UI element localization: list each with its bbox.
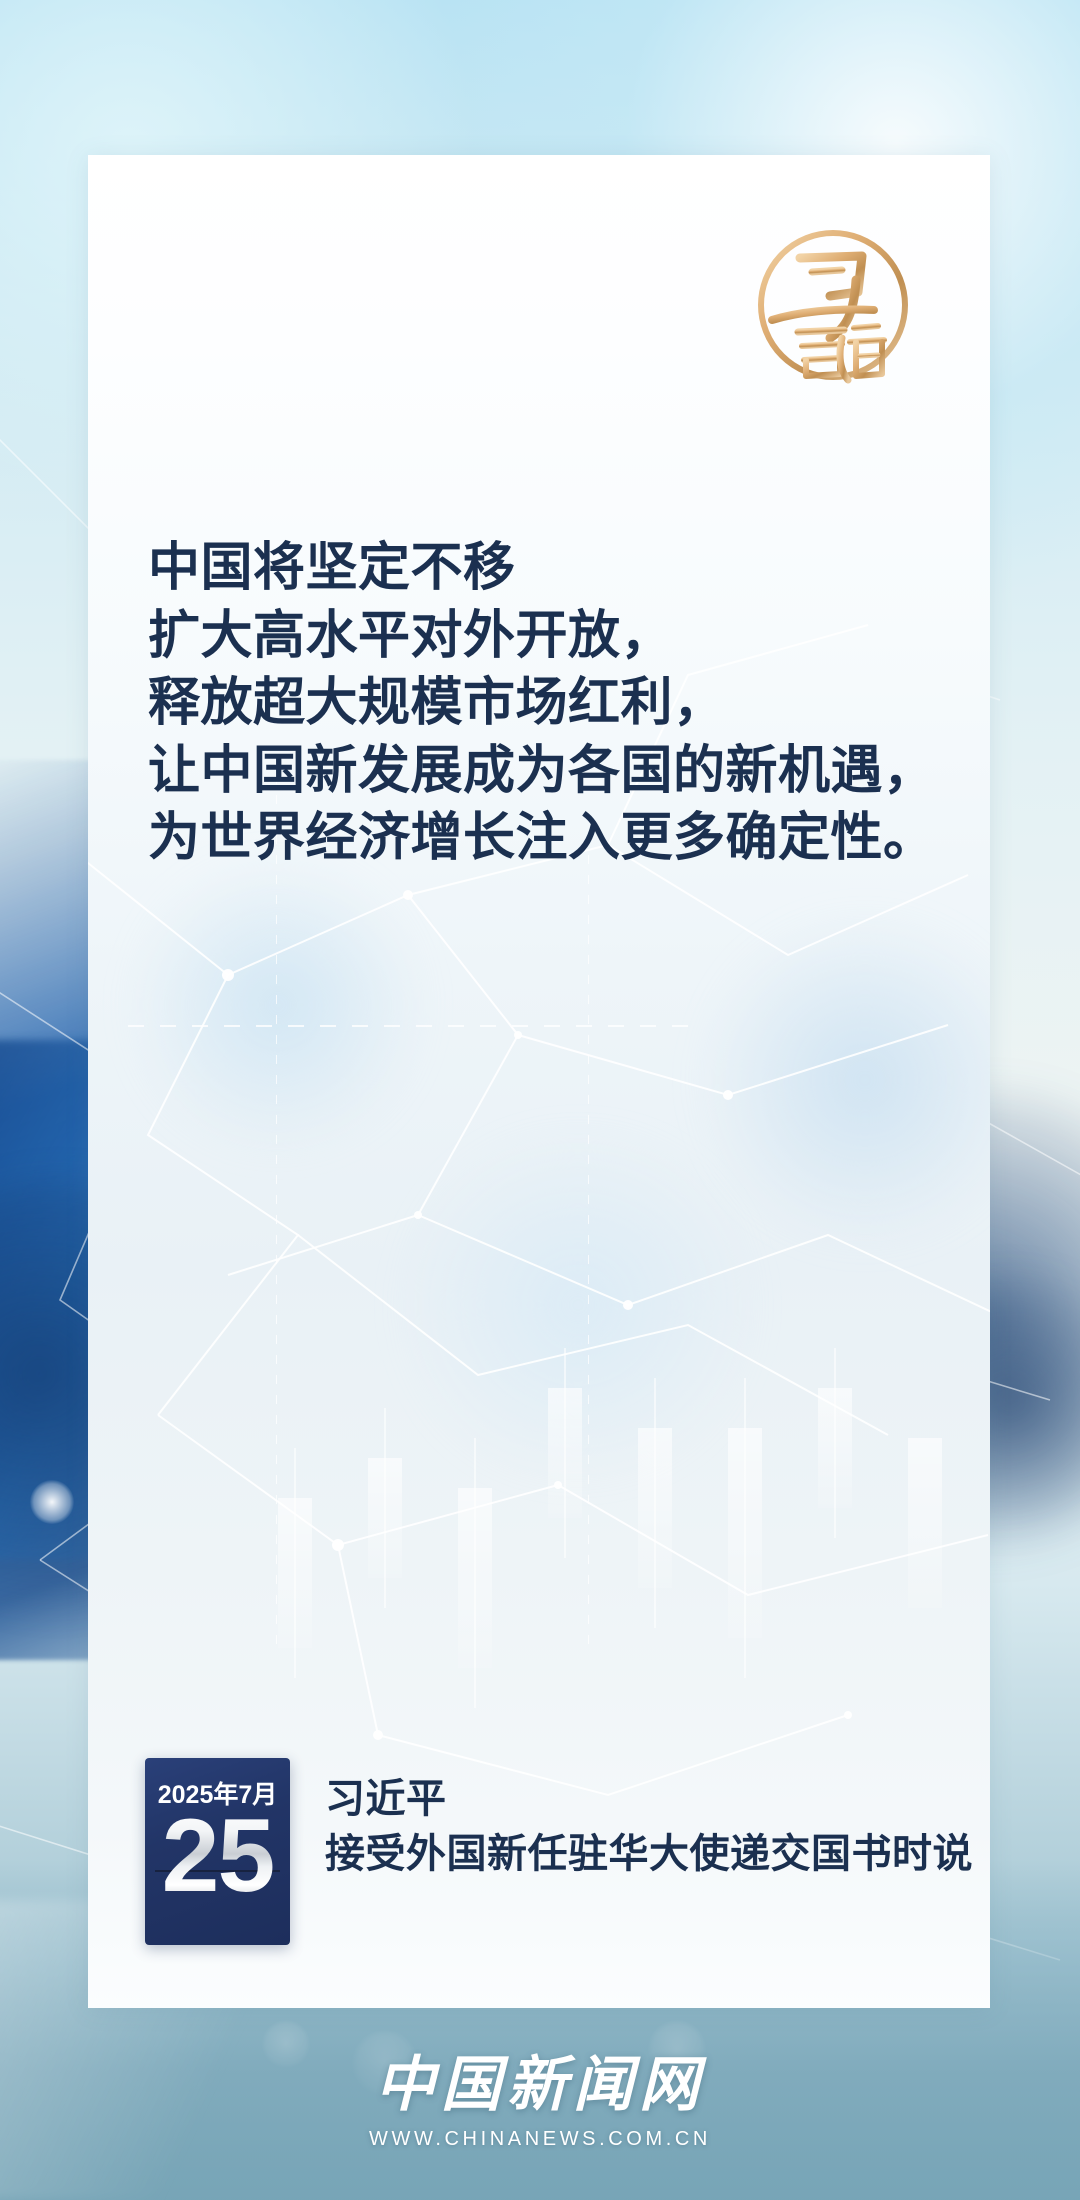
date-day-label: 25 — [145, 1804, 290, 1908]
quote-line-2: 扩大高水平对外开放， — [148, 603, 978, 671]
poster-root: 中国将坚定不移 扩大高水平对外开放， 释放超大规模市场红利， 让中国新发展成为各… — [0, 0, 1080, 2200]
site-url: WWW.CHINANEWS.COM.CN — [0, 2128, 1080, 2151]
quote-line-4: 让中国新发展成为各国的新机遇， — [148, 738, 978, 806]
card-network-lines — [88, 155, 990, 2008]
site-brand-name: 中国新闻网 — [0, 2055, 1080, 2115]
speech-occasion: 接受外国新任驻华大使递交国书时说 — [325, 1831, 973, 1878]
credit-block: 2025年7月 25 习近平 接受外国新任驻华大使递交国书时说 — [145, 1758, 973, 1945]
credit-text-block: 习近平 接受外国新任驻华大使递交国书时说 — [325, 1758, 973, 1878]
quote-line-3: 释放超大规模市场红利， — [148, 670, 978, 738]
quote-text: 中国将坚定不移 扩大高水平对外开放， 释放超大规模市场红利， 让中国新发展成为各… — [148, 535, 978, 873]
content-card: 中国将坚定不移 扩大高水平对外开放， 释放超大规模市场红利， 让中国新发展成为各… — [88, 155, 990, 2008]
site-watermark: 中国新闻网 WWW.CHINANEWS.COM.CN — [0, 2055, 1080, 2151]
quote-line-1: 中国将坚定不移 — [148, 535, 978, 603]
bokeh-dot-8 — [30, 1480, 74, 1524]
xi-yan-dao-seal-logo — [738, 210, 928, 400]
date-badge: 2025年7月 25 — [145, 1758, 290, 1945]
speaker-name: 习近平 — [325, 1776, 973, 1823]
quote-line-5: 为世界经济增长注入更多确定性。 — [148, 805, 978, 873]
